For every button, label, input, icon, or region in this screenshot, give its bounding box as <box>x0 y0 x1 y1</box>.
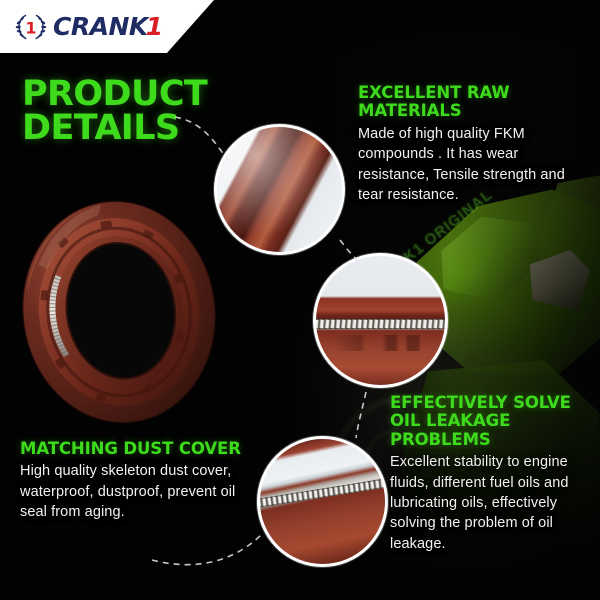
laurel-wreath-number-one-icon: 1 <box>14 11 48 43</box>
product-hero-oil-seal <box>12 196 226 428</box>
product-details-infographic: CRANK1 ORIGINAL CRANK1 <box>0 0 600 600</box>
garter-spring-coil <box>313 319 448 329</box>
brand-wordmark: CRANK1 <box>53 14 163 39</box>
page-title: PRODUCT DETAILS <box>22 77 207 146</box>
feature-body-raw-materials: Made of high quality FKM compounds . It … <box>358 124 586 205</box>
feature-heading-raw-materials: EXCELLENT RAW MATERIALS <box>358 84 586 121</box>
brand-name: CRANK <box>53 14 148 39</box>
svg-text:1: 1 <box>25 18 36 37</box>
spring-coil-closeup-image <box>316 256 445 385</box>
callout-oil-leakage[interactable] <box>257 436 388 567</box>
seal-edge-closeup-image <box>217 127 342 252</box>
page-title-line2: DETAILS <box>22 111 207 145</box>
feature-body-dust-cover: High quality skeleton dust cover, waterp… <box>20 461 242 522</box>
molded-embossing <box>334 335 427 352</box>
brand-logo[interactable]: 1 CRANK1 <box>0 11 163 43</box>
feature-heading-dust-cover: MATCHING DUST COVER <box>20 440 242 458</box>
feature-body-oil-leakage: Excellent stability to engine fluids, di… <box>390 452 590 553</box>
feature-oil-leakage: EFFECTIVELY SOLVE OIL LEAKAGE PROBLEMS E… <box>390 394 590 554</box>
brand-name-suffix: 1 <box>146 14 163 39</box>
callout-matching-dust-cover[interactable] <box>313 253 448 388</box>
callout-excellent-raw-materials[interactable] <box>214 124 345 255</box>
tilted-seal-closeup-image <box>260 439 385 564</box>
garter-spring-coil-tilted <box>257 476 388 508</box>
feature-excellent-raw-materials: EXCELLENT RAW MATERIALS Made of high qua… <box>358 84 586 205</box>
feature-matching-dust-cover: MATCHING DUST COVER High quality skeleto… <box>20 440 242 522</box>
feature-heading-oil-leakage: EFFECTIVELY SOLVE OIL LEAKAGE PROBLEMS <box>390 394 590 449</box>
